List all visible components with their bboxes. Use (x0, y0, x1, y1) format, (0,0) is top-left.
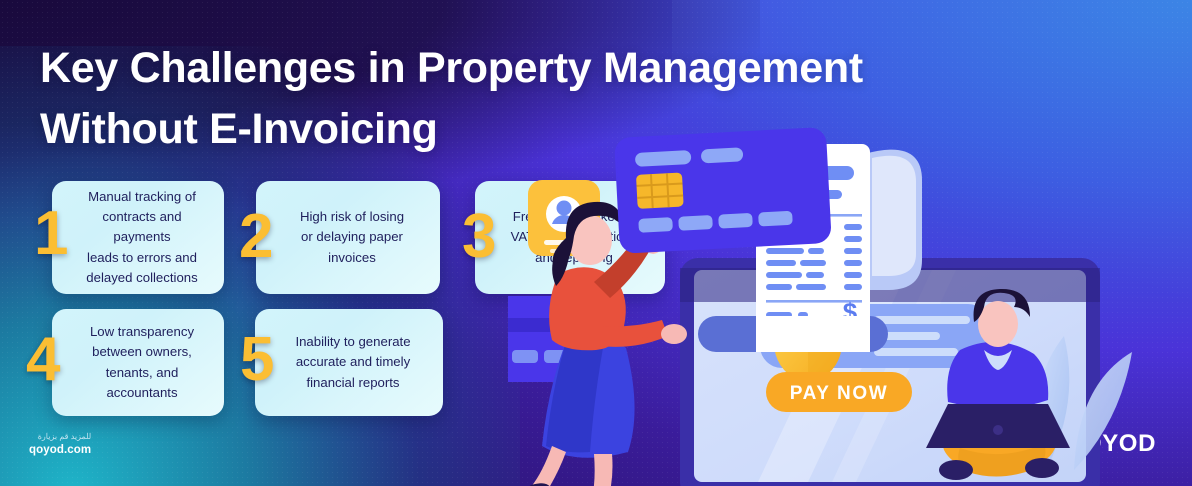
challenge-card-1-number: 1 (34, 203, 66, 265)
held-credit-card-icon (614, 127, 832, 254)
challenge-card-5-number: 5 (240, 329, 272, 391)
challenge-card-5: Inability to generate accurate and timel… (255, 309, 443, 416)
illustration-svg: $ (508, 118, 1192, 486)
invoice-curl (864, 150, 922, 290)
invoice-slot-mask (756, 316, 870, 352)
challenge-card-5-text: Inability to generate accurate and timel… (295, 332, 410, 392)
challenge-card-2-number: 2 (239, 206, 271, 268)
infographic-canvas: Key Challenges in Property Management Wi… (0, 0, 1192, 486)
pay-now-label: PAY NOW (790, 383, 888, 404)
challenge-card-4-number: 4 (26, 329, 58, 391)
challenge-card-1: Manual tracking of contracts and payment… (52, 181, 224, 294)
challenge-card-3-number: 3 (462, 206, 494, 268)
footer-cta: للمزيد قم بزيارة qoyod.com (29, 432, 91, 457)
challenge-card-2: High risk of losing or delaying paper in… (256, 181, 440, 294)
challenge-card-4-text: Low transparency between owners, tenants… (74, 322, 210, 402)
pay-now-button[interactable]: PAY NOW (766, 372, 912, 412)
challenge-card-1-text: Manual tracking of contracts and payment… (74, 187, 210, 287)
footer-arabic-text: للمزيد قم بزيارة (29, 432, 91, 442)
illustration-group: $ (508, 118, 1192, 486)
challenge-card-4: Low transparency between owners, tenants… (52, 309, 224, 416)
footer-website-url: qoyod.com (29, 443, 91, 457)
challenge-card-2-text: High risk of losing or delaying paper in… (300, 207, 404, 267)
